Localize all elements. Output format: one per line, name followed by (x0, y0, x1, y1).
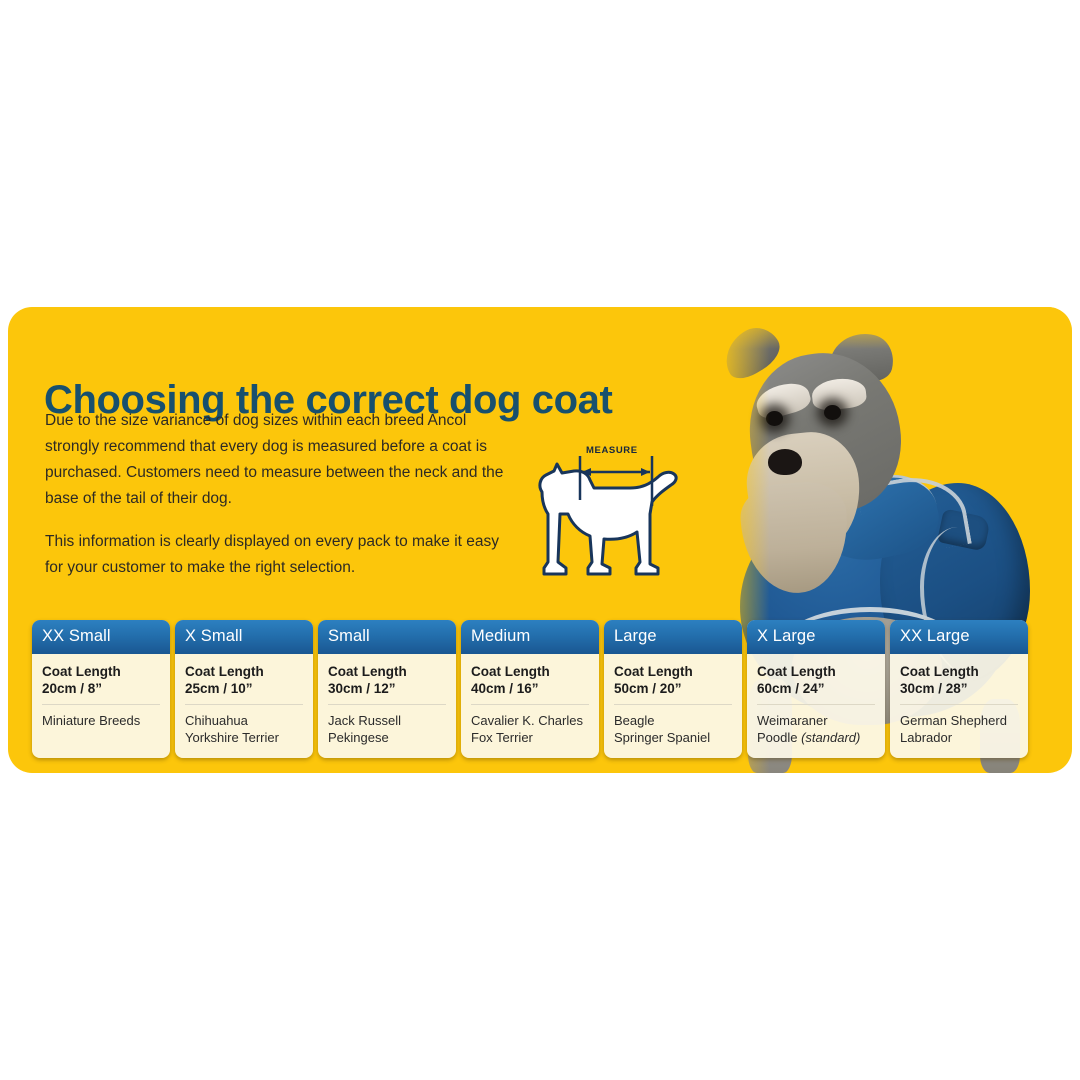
breed-list: Weimaraner Poodle (standard) (757, 712, 875, 746)
size-card-xx-small[interactable]: XX Small Coat Length 20cm / 8” Miniature… (32, 620, 170, 758)
card-divider (900, 704, 1018, 705)
size-card-xx-large[interactable]: XX Large Coat Length 30cm / 28” German S… (890, 620, 1028, 758)
breed-item: Cavalier K. Charles (471, 712, 589, 729)
coat-length-label: Coat Length (328, 663, 446, 680)
size-card-x-small[interactable]: X Small Coat Length 25cm / 10” Chihuahua… (175, 620, 313, 758)
size-card-header: X Large (747, 620, 885, 654)
coat-length-label: Coat Length (757, 663, 875, 680)
breed-item: Jack Russell (328, 712, 446, 729)
size-card-body: Coat Length 20cm / 8” Miniature Breeds (32, 654, 170, 741)
card-divider (328, 704, 446, 705)
size-card-x-large[interactable]: X Large Coat Length 60cm / 24” Weimarane… (747, 620, 885, 758)
coat-length-value: 30cm / 28” (900, 680, 1018, 697)
dog-eye-right (824, 405, 841, 420)
breed-list: Jack Russell Pekingese (328, 712, 446, 746)
coat-length-value: 20cm / 8” (42, 680, 160, 697)
breed-list: Beagle Springer Spaniel (614, 712, 732, 746)
size-card-header: XX Large (890, 620, 1028, 654)
dog-silhouette-icon (524, 444, 704, 589)
card-divider (471, 704, 589, 705)
coat-length-value: 30cm / 12” (328, 680, 446, 697)
card-divider (757, 704, 875, 705)
coat-length-label: Coat Length (42, 663, 160, 680)
breed-list: Chihuahua Yorkshire Terrier (185, 712, 303, 746)
card-divider (614, 704, 732, 705)
size-card-header: Small (318, 620, 456, 654)
intro-paragraph-2: This information is clearly displayed on… (45, 529, 515, 581)
size-card-body: Coat Length 50cm / 20” Beagle Springer S… (604, 654, 742, 758)
intro-copy: Due to the size variance of dog sizes wi… (45, 408, 515, 581)
size-card-body: Coat Length 30cm / 28” German Shepherd L… (890, 654, 1028, 758)
coat-length-label: Coat Length (900, 663, 1018, 680)
size-card-header: X Small (175, 620, 313, 654)
card-divider (185, 704, 303, 705)
card-divider (42, 704, 160, 705)
size-card-header: Large (604, 620, 742, 654)
coat-length-value: 50cm / 20” (614, 680, 732, 697)
measure-arrow (582, 468, 650, 476)
breed-qualifier: (standard) (801, 730, 860, 745)
size-card-small[interactable]: Small Coat Length 30cm / 12” Jack Russel… (318, 620, 456, 758)
breed-list: German Shepherd Labrador (900, 712, 1018, 746)
breed-item: Beagle (614, 712, 732, 729)
breed-item: German Shepherd (900, 712, 1018, 729)
coat-length-label: Coat Length (185, 663, 303, 680)
size-card-medium[interactable]: Medium Coat Length 40cm / 16” Cavalier K… (461, 620, 599, 758)
coat-length-value: 60cm / 24” (757, 680, 875, 697)
size-card-header: XX Small (32, 620, 170, 654)
breed-item: Chihuahua (185, 712, 303, 729)
breed-item-poodle: Poodle (standard) (757, 729, 875, 746)
breed-item: Yorkshire Terrier (185, 729, 303, 746)
size-card-header: Medium (461, 620, 599, 654)
dog-eye-left (766, 411, 783, 426)
breed-item: Miniature Breeds (42, 712, 160, 729)
breed-item: Pekingese (328, 729, 446, 746)
breed-list: Miniature Breeds (42, 712, 160, 729)
size-card-body: Coat Length 25cm / 10” Chihuahua Yorkshi… (175, 654, 313, 758)
size-card-body: Coat Length 40cm / 16” Cavalier K. Charl… (461, 654, 599, 758)
size-card-large[interactable]: Large Coat Length 50cm / 20” Beagle Spri… (604, 620, 742, 758)
coat-length-value: 25cm / 10” (185, 680, 303, 697)
breed-name: Poodle (757, 730, 801, 745)
breed-item: Labrador (900, 729, 1018, 746)
breed-list: Cavalier K. Charles Fox Terrier (471, 712, 589, 746)
size-card-body: Coat Length 60cm / 24” Weimaraner Poodle… (747, 654, 885, 758)
coat-length-label: Coat Length (471, 663, 589, 680)
measure-label: MEASURE (586, 445, 638, 456)
size-card-body: Coat Length 30cm / 12” Jack Russell Peki… (318, 654, 456, 758)
coat-length-value: 40cm / 16” (471, 680, 589, 697)
breed-item: Fox Terrier (471, 729, 589, 746)
dog-nose (768, 449, 802, 475)
breed-item: Springer Spaniel (614, 729, 732, 746)
measure-diagram: MEASURE (524, 444, 704, 589)
infographic-stage: Choosing the correct dog coat Due to the… (0, 0, 1080, 1080)
coat-length-label: Coat Length (614, 663, 732, 680)
size-cards-row: XX Small Coat Length 20cm / 8” Miniature… (32, 620, 1032, 758)
intro-paragraph-1: Due to the size variance of dog sizes wi… (45, 408, 515, 512)
breed-item: Weimaraner (757, 712, 875, 729)
